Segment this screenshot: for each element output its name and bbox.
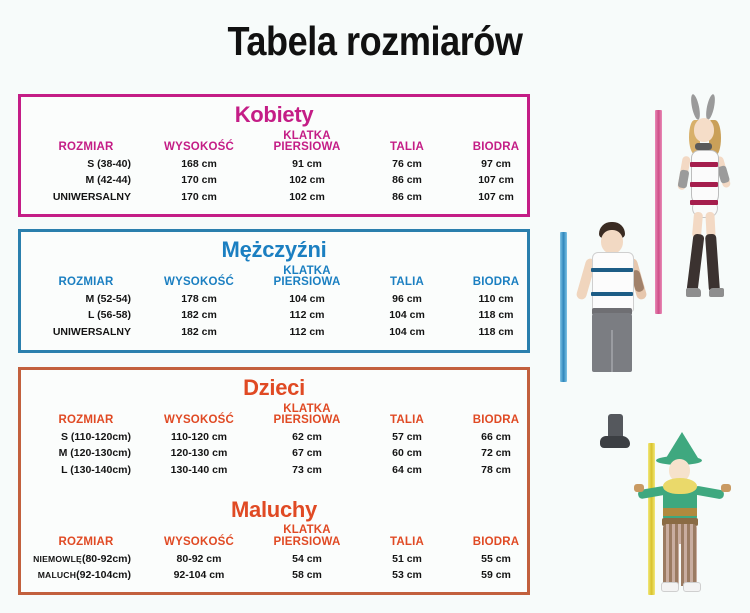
chest-measure-band	[591, 268, 633, 272]
column-header-biodra: BIODRA	[453, 415, 539, 429]
cell-waist: 86 cm	[361, 189, 453, 205]
chest-header-line1: KLATKA	[283, 265, 331, 277]
cell-waist: 51 cm	[361, 551, 453, 567]
column-header-biodra: BIODRA	[453, 277, 539, 291]
cell-hips: 107 cm	[453, 189, 539, 205]
column-header-wysokosc: WYSOKOŚĆ	[145, 537, 253, 551]
child-arm-right	[693, 485, 724, 499]
woman-shoe-right	[709, 288, 724, 297]
bow-tie-icon	[695, 143, 712, 150]
cell-height: 110-120 cm	[145, 429, 253, 445]
table-row: L (130-140cm) 130-140 cm 73 cm 64 cm 78 …	[21, 462, 527, 478]
cell-chest: 62 cm	[253, 429, 361, 445]
page-title: Tabela rozmiarów	[45, 18, 705, 65]
table-row: MALUCH(92-104cm) 92-104 cm 58 cm 53 cm 5…	[21, 567, 527, 583]
child-scarecrow-illustration	[640, 432, 736, 608]
bunny-ear-left-icon	[689, 94, 701, 121]
cell-size: M (52-54)	[27, 291, 145, 307]
cell-hips: 97 cm	[453, 156, 539, 172]
child-collar	[663, 478, 697, 494]
child-hand-right	[721, 484, 731, 492]
chest-header-line2: PIERSIOWA	[274, 141, 341, 153]
cell-size-word: MALUCH	[38, 570, 76, 580]
man-head	[601, 230, 623, 254]
cell-size: L (130-140cm)	[27, 462, 145, 478]
cell-chest: 102 cm	[253, 172, 361, 188]
woman-stocking-right	[705, 234, 720, 293]
cell-waist: 76 cm	[361, 156, 453, 172]
cell-size: UNIWERSALNY	[27, 189, 145, 205]
column-header-rozmiar: ROZMIAR	[27, 142, 145, 156]
cell-chest: 104 cm	[253, 291, 361, 307]
column-header-rozmiar: ROZMIAR	[27, 415, 145, 429]
column-header-klatka-piersiowa: KLATKA PIERSIOWA	[253, 525, 361, 550]
cell-hips: 107 cm	[453, 172, 539, 188]
cell-chest: 54 cm	[253, 551, 361, 567]
woman-shoe-left	[686, 288, 701, 297]
cell-hips: 66 cm	[453, 429, 539, 445]
column-header-rozmiar: ROZMIAR	[27, 537, 145, 551]
cell-size: NIEMOWLĘ(80-92cm)	[27, 551, 145, 567]
table-row: S (38-40) 168 cm 91 cm 76 cm 97 cm	[21, 156, 527, 172]
cell-height: 120-130 cm	[145, 445, 253, 461]
cell-waist: 104 cm	[361, 307, 453, 323]
chest-header-line1: KLATKA	[283, 130, 331, 142]
cell-hips: 118 cm	[453, 324, 539, 340]
column-header-talia: TALIA	[361, 415, 453, 429]
section-spacer	[21, 478, 527, 492]
man-leg-divider	[611, 330, 613, 372]
man-foot-overlap	[600, 414, 630, 452]
chest-header-line2: PIERSIOWA	[274, 276, 341, 288]
cell-chest: 67 cm	[253, 445, 361, 461]
blue-measuring-ruler	[560, 232, 567, 382]
column-header-biodra: BIODRA	[453, 537, 539, 551]
column-header-talia: TALIA	[361, 537, 453, 551]
column-header-wysokosc: WYSOKOŚĆ	[145, 277, 253, 291]
waist-measure-band	[591, 292, 633, 296]
table-row: M (52-54) 178 cm 104 cm 96 cm 110 cm	[21, 291, 527, 307]
cell-size-range: (80-92cm)	[82, 553, 131, 565]
table-row: L (56-58) 182 cm 112 cm 104 cm 118 cm	[21, 307, 527, 323]
cell-height: 182 cm	[145, 324, 253, 340]
table-row: UNIWERSALNY 170 cm 102 cm 86 cm 107 cm	[21, 189, 527, 205]
child-leg-divider	[679, 544, 681, 586]
cell-size: M (42-44)	[27, 172, 145, 188]
bunny-ear-right-icon	[704, 94, 716, 121]
men-section-heading: Mężczyźni	[21, 239, 527, 261]
table-row: M (42-44) 170 cm 102 cm 86 cm 107 cm	[21, 172, 527, 188]
column-header-wysokosc: WYSOKOŚĆ	[145, 142, 253, 156]
cell-waist: 57 cm	[361, 429, 453, 445]
hips-measure-band	[690, 200, 718, 205]
chest-header-line2: PIERSIOWA	[274, 536, 341, 548]
kids-size-table: Dzieci ROZMIAR WYSOKOŚĆ KLATKA PIERSIOWA…	[18, 367, 530, 595]
cell-waist: 86 cm	[361, 172, 453, 188]
cell-hips: 72 cm	[453, 445, 539, 461]
cell-height: 168 cm	[145, 156, 253, 172]
cell-height: 178 cm	[145, 291, 253, 307]
man-measuring-illustration	[572, 222, 658, 372]
witch-hat-icon	[666, 432, 698, 458]
cell-size: L (56-58)	[27, 307, 145, 323]
woman-head	[694, 118, 714, 142]
cell-hips: 78 cm	[453, 462, 539, 478]
cell-chest: 73 cm	[253, 462, 361, 478]
cell-waist: 96 cm	[361, 291, 453, 307]
cell-hips: 55 cm	[453, 551, 539, 567]
child-shoe-right	[683, 582, 701, 592]
women-header-row: ROZMIAR WYSOKOŚĆ KLATKA PIERSIOWA TALIA …	[21, 126, 527, 156]
chest-measure-band	[690, 162, 718, 167]
column-header-talia: TALIA	[361, 277, 453, 291]
cell-waist: 104 cm	[361, 324, 453, 340]
cell-chest: 91 cm	[253, 156, 361, 172]
man-shoe	[600, 436, 630, 448]
cell-waist: 60 cm	[361, 445, 453, 461]
cell-height: 170 cm	[145, 189, 253, 205]
cell-hips: 59 cm	[453, 567, 539, 583]
men-header-row: ROZMIAR WYSOKOŚĆ KLATKA PIERSIOWA TALIA …	[21, 261, 527, 291]
column-header-talia: TALIA	[361, 142, 453, 156]
cell-size: UNIWERSALNY	[27, 324, 145, 340]
column-header-rozmiar: ROZMIAR	[27, 277, 145, 291]
women-size-table: Kobiety ROZMIAR WYSOKOŚĆ KLATKA PIERSIOW…	[18, 94, 530, 217]
kids-section-heading: Dzieci	[21, 377, 527, 399]
cell-size-range: (92-104cm)	[76, 569, 131, 581]
woman-glove-left	[678, 169, 690, 188]
cell-height: 182 cm	[145, 307, 253, 323]
column-header-klatka-piersiowa: KLATKA PIERSIOWA	[253, 131, 361, 156]
kids-header-row: ROZMIAR WYSOKOŚĆ KLATKA PIERSIOWA TALIA …	[21, 399, 527, 429]
waist-measure-band	[690, 182, 718, 187]
child-hand-left	[634, 484, 644, 492]
cell-size: MALUCH(92-104cm)	[27, 567, 145, 583]
cell-size: S (110-120cm)	[27, 429, 145, 445]
size-chart-page: Tabela rozmiarów Kobiety ROZMIAR WYSOKOŚ…	[0, 0, 750, 613]
cell-size-word: NIEMOWLĘ	[33, 554, 82, 564]
toddlers-section-heading: Maluchy	[21, 499, 527, 521]
table-row: NIEMOWLĘ(80-92cm) 80-92 cm 54 cm 51 cm 5…	[21, 551, 527, 567]
cell-size: M (120-130cm)	[27, 445, 145, 461]
child-costume-fringe	[663, 508, 697, 516]
toddlers-header-row: ROZMIAR WYSOKOŚĆ KLATKA PIERSIOWA TALIA …	[21, 521, 527, 551]
cell-waist: 53 cm	[361, 567, 453, 583]
cell-chest: 112 cm	[253, 307, 361, 323]
column-header-klatka-piersiowa: KLATKA PIERSIOWA	[253, 404, 361, 429]
table-row: S (110-120cm) 110-120 cm 62 cm 57 cm 66 …	[21, 429, 527, 445]
column-header-wysokosc: WYSOKOŚĆ	[145, 415, 253, 429]
cell-chest: 58 cm	[253, 567, 361, 583]
table-row: UNIWERSALNY 182 cm 112 cm 104 cm 118 cm	[21, 324, 527, 340]
woman-stocking-left	[687, 234, 705, 293]
chest-header-line1: KLATKA	[283, 403, 331, 415]
cell-height: 80-92 cm	[145, 551, 253, 567]
cell-chest: 102 cm	[253, 189, 361, 205]
cell-height: 170 cm	[145, 172, 253, 188]
women-section-heading: Kobiety	[21, 104, 527, 126]
cell-height: 130-140 cm	[145, 462, 253, 478]
table-row: M (120-130cm) 120-130 cm 67 cm 60 cm 72 …	[21, 445, 527, 461]
men-size-table: Mężczyźni ROZMIAR WYSOKOŚĆ KLATKA PIERSI…	[18, 229, 530, 353]
woman-torso	[691, 150, 719, 207]
column-header-klatka-piersiowa: KLATKA PIERSIOWA	[253, 266, 361, 291]
chest-header-line2: PIERSIOWA	[274, 414, 341, 426]
cell-hips: 118 cm	[453, 307, 539, 323]
cell-chest: 112 cm	[253, 324, 361, 340]
cell-size: S (38-40)	[27, 156, 145, 172]
child-shoe-left	[661, 582, 679, 592]
cell-hips: 110 cm	[453, 291, 539, 307]
chest-header-line1: KLATKA	[283, 524, 331, 536]
man-torso	[592, 252, 634, 312]
woman-bunny-costume-illustration	[664, 96, 746, 324]
cell-waist: 64 cm	[361, 462, 453, 478]
column-header-biodra: BIODRA	[453, 142, 539, 156]
cell-height: 92-104 cm	[145, 567, 253, 583]
